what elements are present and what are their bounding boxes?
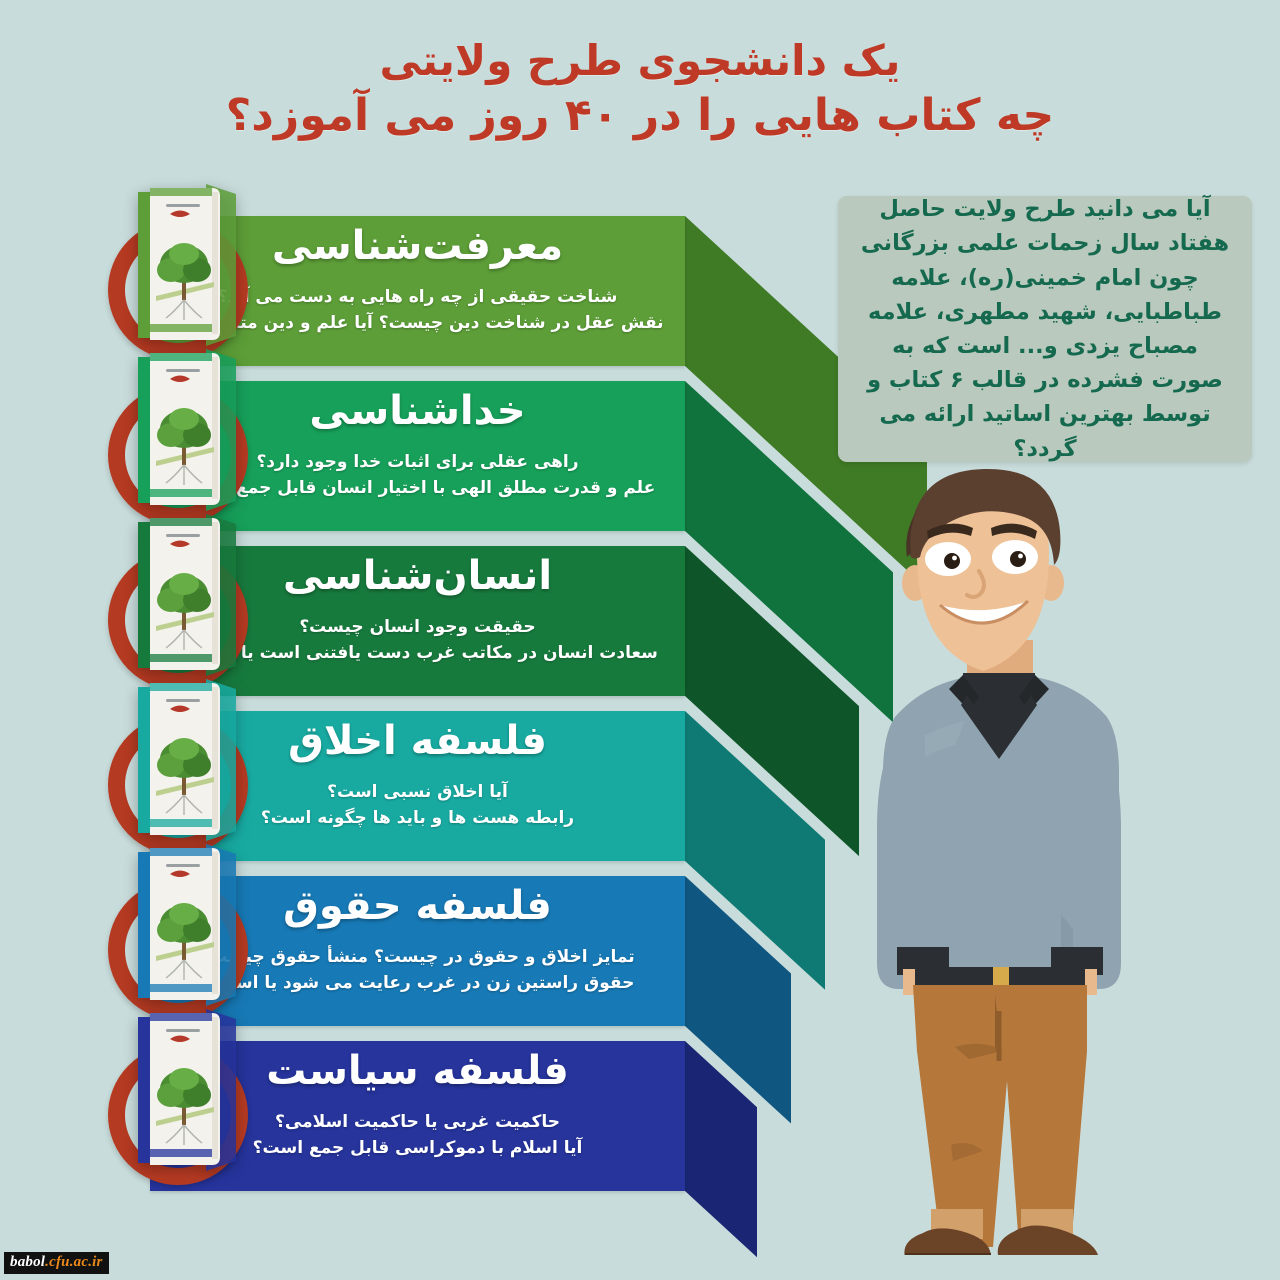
book-group-6[interactable] (100, 993, 280, 1198)
watermark-part2: .cfu.ac.ir (45, 1254, 102, 1270)
info-box: آیا می دانید طرح ولایت حاصل هفتاد سال زح… (838, 196, 1252, 462)
site-watermark: babol.cfu.ac.ir (4, 1252, 109, 1274)
info-box-text: آیا می دانید طرح ولایت حاصل هفتاد سال زح… (838, 192, 1252, 466)
book-icon[interactable] (132, 673, 240, 843)
book-icon[interactable] (132, 508, 240, 678)
book-icon[interactable] (132, 838, 240, 1008)
book-icon[interactable] (132, 343, 240, 513)
book-icon[interactable] (132, 1003, 240, 1173)
bar-side-face-6 (685, 1041, 777, 1271)
student-illustration (855, 455, 1185, 1255)
infographic-root: یک دانشجوی طرح ولایتی چه کتاب هایی را در… (0, 0, 1280, 1280)
book-icon[interactable] (132, 178, 240, 348)
watermark-part1: babol (10, 1254, 45, 1270)
